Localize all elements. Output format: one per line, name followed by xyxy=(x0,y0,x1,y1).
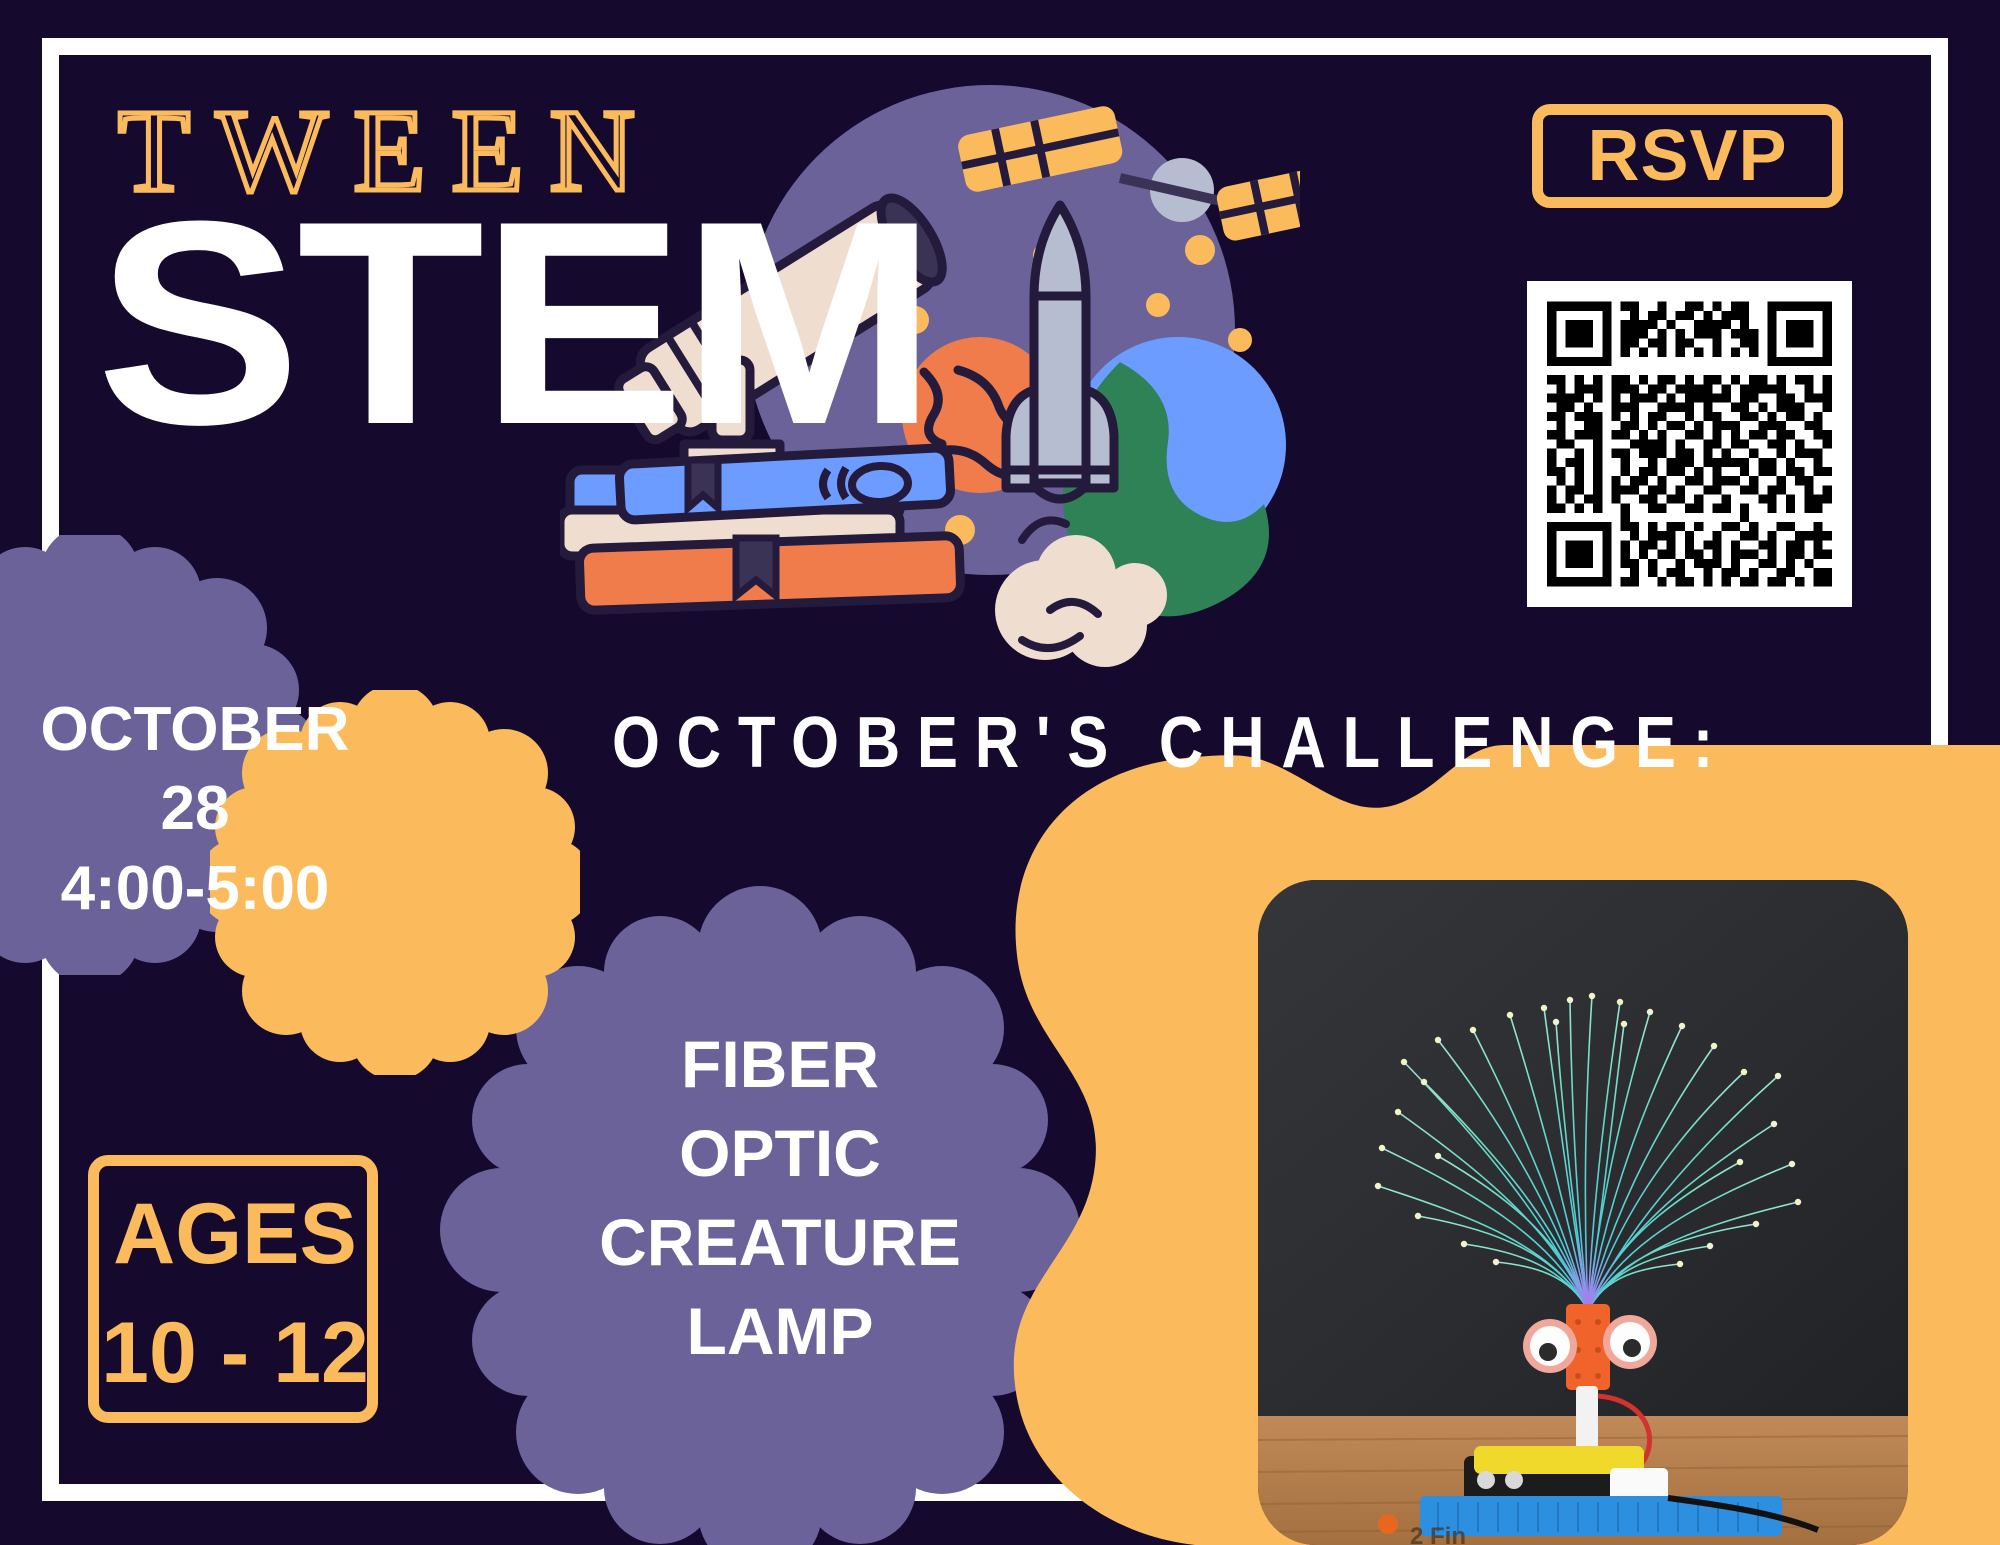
project-line-2: OPTIC xyxy=(540,1109,1020,1198)
event-date-block: OCTOBER 28 4:00-5:00 xyxy=(20,690,370,928)
poster-canvas: TWEEN STEM RSVP xyxy=(0,0,2000,1545)
ages-range: 10 - 12 xyxy=(60,1294,410,1413)
event-date-month: OCTOBER xyxy=(20,690,370,769)
challenge-heading: OCTOBER'S CHALLENGE: xyxy=(612,706,1730,778)
rsvp-label: RSVP xyxy=(1587,120,1787,192)
event-time: 4:00-5:00 xyxy=(20,849,370,928)
qr-code[interactable] xyxy=(1527,281,1852,607)
ages-text-block: AGES 10 - 12 xyxy=(60,1175,410,1412)
page-title-stem: STEM xyxy=(96,178,933,468)
project-line-3: CREATURE xyxy=(540,1198,1020,1287)
project-photo: 2 Fin xyxy=(1258,880,1908,1545)
ages-label: AGES xyxy=(60,1175,410,1294)
rsvp-button[interactable]: RSVP xyxy=(1532,104,1843,208)
event-date-day: 28 xyxy=(20,769,370,848)
project-name-block: FIBER OPTIC CREATURE LAMP xyxy=(540,1020,1020,1376)
svg-text:2 Fin: 2 Fin xyxy=(1410,1523,1466,1545)
project-line-1: FIBER xyxy=(540,1020,1020,1109)
project-line-4: LAMP xyxy=(540,1287,1020,1376)
